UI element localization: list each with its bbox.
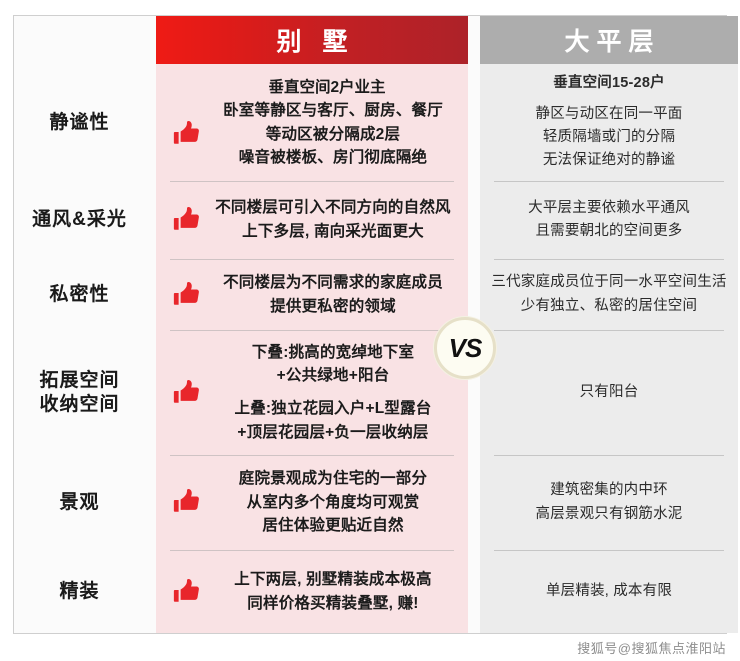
comparison-table: 静谧性 通风&采光 私密性 拓展空间收纳空间 景观 精装 [14,16,726,633]
flat-cell: 大平层主要依赖水平通风且需要朝北的空间更多 [480,181,738,259]
villa-cell-body: 庭院景观成为住宅的一部分从室内多个角度均可观赏居住体验更贴近自然 [164,467,460,538]
criteria-label: 私密性 [49,283,109,307]
villa-cell-body: 不同楼层可引入不同方向的自然风上下多层, 南向采光面更大 [164,196,460,243]
villa-lead-text: 垂直空间2户业主 [164,75,460,97]
villa-cell: 不同楼层为不同需求的家庭成员提供更私密的领域 [156,259,468,330]
villa-cell: 下叠:挑高的宽绰地下室+公共绿地+阳台 上叠:独立花园入户+L型露台+顶层花园层… [156,330,468,455]
criteria-label: 精装 [59,580,99,604]
comparison-infographic: 静谧性 通风&采光 私密性 拓展空间收纳空间 景观 精装 [0,0,740,661]
watermark: 搜狐号@搜狐焦点淮阳站 [577,638,726,657]
thumbs-up-icon [170,577,204,607]
villa-text: 不同楼层可引入不同方向的自然风上下多层, 南向采光面更大 [206,196,460,243]
villa-cell: 庭院景观成为住宅的一部分从室内多个角度均可观赏居住体验更贴近自然 [156,455,468,550]
criteria-row: 私密性 [14,259,145,330]
criteria-row: 静谧性 [14,64,145,181]
criteria-row: 景观 [14,455,145,550]
criteria-label: 景观 [59,491,99,515]
column-gap [145,16,156,633]
villa-text: 不同楼层为不同需求的家庭成员提供更私密的领域 [206,271,460,318]
villa-text-group: 上叠:独立花园入户+L型露台+顶层花园层+负一层收纳层 [206,397,460,444]
flat-text: 建筑密集的内中环高层景观只有钢筋水泥 [536,479,683,526]
vs-badge: VS [434,317,496,379]
thumbs-up-icon [170,205,204,235]
flat-cell: 三代家庭成员位于同一水平空间生活少有独立、私密的居住空间 [480,259,738,330]
villa-cell: 垂直空间2户业主 卧室等静区与客厅、厨房、餐厅等动区被分隔成2层噪音被楼板、房门… [156,64,468,181]
flat-column: 大平层 垂直空间15-28户 静区与动区在同一平面轻质隔墙或门的分隔无法保证绝对… [480,16,738,633]
criteria-label: 拓展空间收纳空间 [39,369,119,417]
criteria-row: 通风&采光 [14,181,145,259]
criteria-row: 拓展空间收纳空间 [14,330,145,455]
flat-text: 单层精装, 成本有限 [546,580,672,603]
flat-cell: 只有阳台 [480,330,738,455]
villa-cell-body: 下叠:挑高的宽绰地下室+公共绿地+阳台 上叠:独立花园入户+L型露台+顶层花园层… [164,341,460,444]
flat-cell: 建筑密集的内中环高层景观只有钢筋水泥 [480,455,738,550]
criteria-row: 精装 [14,550,145,633]
villa-text-group: 下叠:挑高的宽绰地下室+公共绿地+阳台 [206,341,460,388]
thumbs-up-icon [170,119,204,149]
criteria-column: 静谧性 通风&采光 私密性 拓展空间收纳空间 景观 精装 [14,16,145,633]
flat-cell: 垂直空间15-28户 静区与动区在同一平面轻质隔墙或门的分隔无法保证绝对的静谧 [480,64,738,181]
thumbs-up-icon [170,378,204,408]
flat-text: 垂直空间15-28户 静区与动区在同一平面轻质隔墙或门的分隔无法保证绝对的静谧 [536,72,683,173]
flat-text: 三代家庭成员位于同一水平空间生活少有独立、私密的居住空间 [491,271,726,318]
villa-cell-list: 垂直空间2户业主 卧室等静区与客厅、厨房、餐厅等动区被分隔成2层噪音被楼板、房门… [156,64,468,633]
villa-text: 上下两层, 别墅精装成本极高同样价格买精装叠墅, 赚! [206,568,460,615]
flat-column-header: 大平层 [480,16,738,64]
villa-cell-body: 卧室等静区与客厅、厨房、餐厅等动区被分隔成2层噪音被楼板、房门彻底隔绝 [164,99,460,170]
villa-cell: 不同楼层可引入不同方向的自然风上下多层, 南向采光面更大 [156,181,468,259]
flat-text: 只有阳台 [580,381,639,404]
villa-text: 下叠:挑高的宽绰地下室+公共绿地+阳台 上叠:独立花园入户+L型露台+顶层花园层… [206,341,460,444]
criteria-list: 静谧性 通风&采光 私密性 拓展空间收纳空间 景观 精装 [14,64,145,633]
flat-cell-list: 垂直空间15-28户 静区与动区在同一平面轻质隔墙或门的分隔无法保证绝对的静谧 … [480,64,738,633]
villa-cell: 上下两层, 别墅精装成本极高同样价格买精装叠墅, 赚! [156,550,468,633]
thumbs-up-icon [170,280,204,310]
flat-lead-text: 垂直空间15-28户 [536,72,683,95]
criteria-label: 通风&采光 [32,208,127,232]
criteria-label: 静谧性 [49,111,109,135]
flat-text: 大平层主要依赖水平通风且需要朝北的空间更多 [528,197,690,244]
villa-cell-body: 不同楼层为不同需求的家庭成员提供更私密的领域 [164,271,460,318]
flat-detail-text: 静区与动区在同一平面轻质隔墙或门的分隔无法保证绝对的静谧 [536,106,683,169]
villa-text: 卧室等静区与客厅、厨房、餐厅等动区被分隔成2层噪音被楼板、房门彻底隔绝 [206,99,460,170]
label-header-spacer [14,16,145,64]
flat-cell: 单层精装, 成本有限 [480,550,738,633]
thumbs-up-icon [170,487,204,517]
villa-column: 别 墅 垂直空间2户业主 卧室等静区与客厅、厨房、餐厅等动区被分隔成2层噪音被楼… [156,16,468,633]
villa-text: 庭院景观成为住宅的一部分从室内多个角度均可观赏居住体验更贴近自然 [206,467,460,538]
villa-cell-body: 上下两层, 别墅精装成本极高同样价格买精装叠墅, 赚! [164,568,460,615]
villa-column-header: 别 墅 [156,16,468,64]
